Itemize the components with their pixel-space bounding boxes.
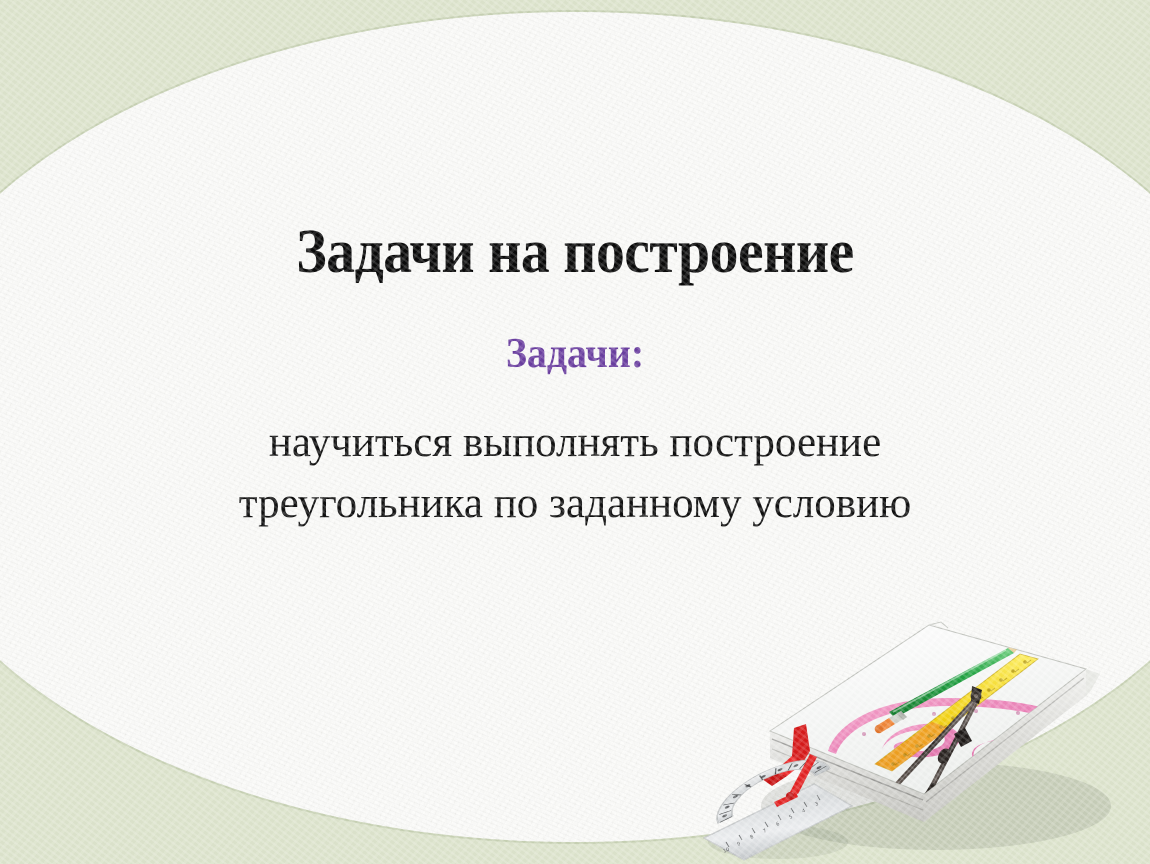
- slide: Задачи на построение Задачи: научиться в…: [0, 0, 1150, 864]
- book-with-drafting-tools-image: 10 9 8 7 6 5 4 3: [686, 606, 1150, 864]
- objectives-line-1: научиться выполнять построение: [130, 412, 1020, 473]
- subtitle-label: Задачи:: [29, 331, 1122, 377]
- page-title: Задачи на построение: [40, 220, 1110, 285]
- objectives-line-2: треугольника по заданному условию: [130, 473, 1020, 534]
- objectives-text: научиться выполнять построение треугольн…: [130, 412, 1020, 534]
